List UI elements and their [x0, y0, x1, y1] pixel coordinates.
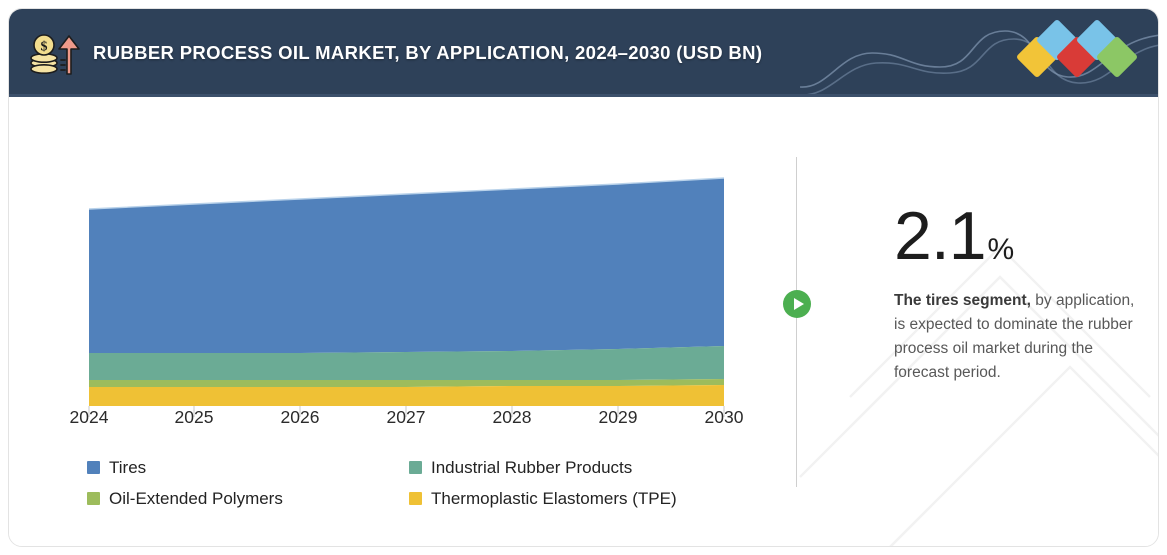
x-tick-2025: 2025 — [154, 407, 234, 428]
x-tick-2027: 2027 — [366, 407, 446, 428]
legend-item-oil-extended-polymers[interactable]: Oil-Extended Polymers — [87, 490, 409, 507]
vertical-divider — [796, 157, 797, 487]
cagr-percent-symbol: % — [988, 235, 1015, 265]
area-series-oil-extended-polymers — [89, 379, 724, 387]
x-axis-labels: 2024 2025 2026 2027 2028 2029 2030 — [9, 407, 779, 441]
area-series-thermoplastic-elastomers — [89, 385, 724, 406]
play-triangle — [794, 298, 804, 310]
callout-panel: 2.1 % The tires segment, by application,… — [864, 97, 1159, 547]
card-container: $ RUBBER PROCESS OIL MARKET, BY APPLICAT… — [8, 8, 1159, 547]
legend-item-industrial-rubber-products[interactable]: Industrial Rubber Products — [409, 459, 632, 476]
body-area: 2024 2025 2026 2027 2028 2029 2030 Tires — [9, 97, 1159, 547]
header-bar: $ RUBBER PROCESS OIL MARKET, BY APPLICAT… — [9, 9, 1159, 97]
legend-swatch-oil-extended-polymers — [87, 492, 100, 505]
legend-row-1: Tires Industrial Rubber Products — [87, 459, 777, 476]
legend-swatch-tires — [87, 461, 100, 474]
legend-label-thermoplastic-elastomers: Thermoplastic Elastomers (TPE) — [431, 490, 677, 507]
callout-text-bold: The tires segment, — [894, 292, 1031, 309]
legend-swatch-industrial-rubber-products — [409, 461, 422, 474]
svg-text:$: $ — [41, 40, 48, 55]
infographic-page: $ RUBBER PROCESS OIL MARKET, BY APPLICAT… — [0, 0, 1167, 555]
x-tick-2030: 2030 — [684, 407, 764, 428]
chart-plot-area — [9, 97, 779, 437]
diamond-decoration-group — [1022, 25, 1134, 81]
legend-item-tires[interactable]: Tires — [87, 459, 409, 476]
x-tick-2028: 2028 — [472, 407, 552, 428]
cagr-value-group: 2.1 % — [894, 202, 1014, 270]
cagr-number: 2.1 — [894, 202, 986, 270]
legend-label-industrial-rubber-products: Industrial Rubber Products — [431, 459, 632, 476]
x-tick-2024: 2024 — [49, 407, 129, 428]
page-title: RUBBER PROCESS OIL MARKET, BY APPLICATIO… — [93, 9, 762, 97]
legend-label-oil-extended-polymers: Oil-Extended Polymers — [109, 490, 283, 507]
legend-row-2: Oil-Extended Polymers Thermoplastic Elas… — [87, 490, 777, 507]
chart-legend: Tires Industrial Rubber Products Oil-Ext… — [87, 459, 777, 521]
callout-text: The tires segment, by application, is ex… — [894, 289, 1142, 385]
stacked-area-chart: 2024 2025 2026 2027 2028 2029 2030 Tires — [9, 97, 779, 547]
legend-swatch-tpe — [409, 492, 422, 505]
play-icon[interactable] — [783, 290, 811, 318]
money-growth-icon: $ — [25, 31, 81, 77]
x-tick-2029: 2029 — [578, 407, 658, 428]
legend-item-thermoplastic-elastomers[interactable]: Thermoplastic Elastomers (TPE) — [409, 490, 677, 507]
legend-label-tires: Tires — [109, 459, 146, 476]
x-tick-2026: 2026 — [260, 407, 340, 428]
